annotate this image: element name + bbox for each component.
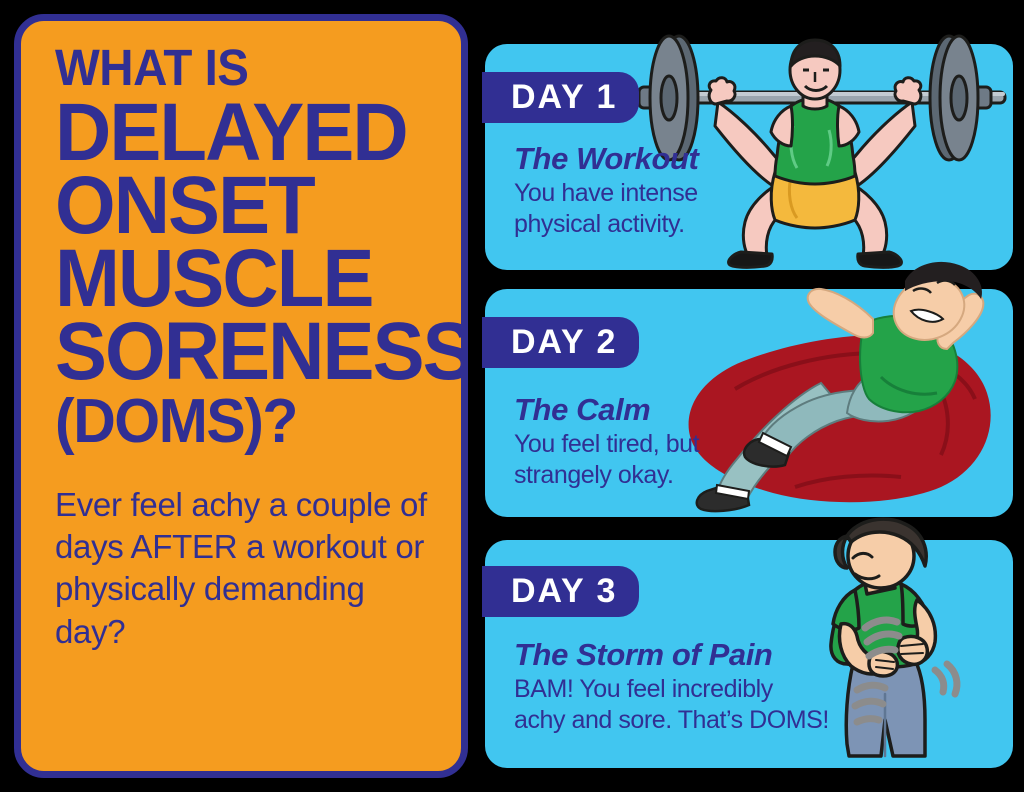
page-title: DELAYED ONSET MUSCLE SORENESS (DOMS)? — [55, 97, 443, 454]
hero-panel: WHAT IS DELAYED ONSET MUSCLE SORENESS (D… — [14, 14, 468, 778]
title-acronym: (DOMS)? — [55, 389, 424, 454]
hero-subtitle: Ever feel achy a couple of days AFTER a … — [55, 484, 443, 653]
card-body-line: BAM! You feel incredibly — [514, 674, 829, 706]
day-badge-2: DAY 2 — [482, 317, 639, 368]
card-text-1: The Workout You have intense physical ac… — [514, 142, 698, 241]
hero-kicker: WHAT IS — [55, 43, 416, 93]
day-badge-3: DAY 3 — [482, 566, 639, 617]
card-heading-2: The Calm — [514, 393, 699, 428]
day-card-3: DAY 3 The Storm of Pain BAM! You feel in… — [485, 540, 1013, 768]
card-text-3: The Storm of Pain BAM! You feel incredib… — [514, 638, 829, 737]
card-body-2: You feel tired, but strangely okay. — [514, 429, 699, 492]
hero-content: WHAT IS DELAYED ONSET MUSCLE SORENESS (D… — [55, 43, 443, 653]
card-body-1: You have intense physical activity. — [514, 178, 698, 241]
card-heading-1: The Workout — [514, 142, 698, 177]
day-badge-1: DAY 1 — [482, 72, 639, 123]
card-body-line: physical activity. — [514, 209, 698, 241]
card-body-line: achy and sore. That’s DOMS! — [514, 705, 829, 737]
card-body-line: You feel tired, but — [514, 429, 699, 461]
day-card-2: DAY 2 The Calm You feel tired, but stran… — [485, 289, 1013, 517]
day-card-1: DAY 1 The Workout You have intense physi… — [485, 44, 1013, 270]
man-relaxing-beanbag-icon — [675, 281, 1015, 521]
card-body-3: BAM! You feel incredibly achy and sore. … — [514, 674, 829, 737]
card-text-2: The Calm You feel tired, but strangely o… — [514, 393, 699, 492]
card-heading-3: The Storm of Pain — [514, 638, 829, 673]
title-line-4: SORENESS — [55, 316, 424, 389]
card-body-line: strangely okay. — [514, 460, 699, 492]
card-body-line: You have intense — [514, 178, 698, 210]
infographic-canvas: WHAT IS DELAYED ONSET MUSCLE SORENESS (D… — [0, 0, 1024, 792]
